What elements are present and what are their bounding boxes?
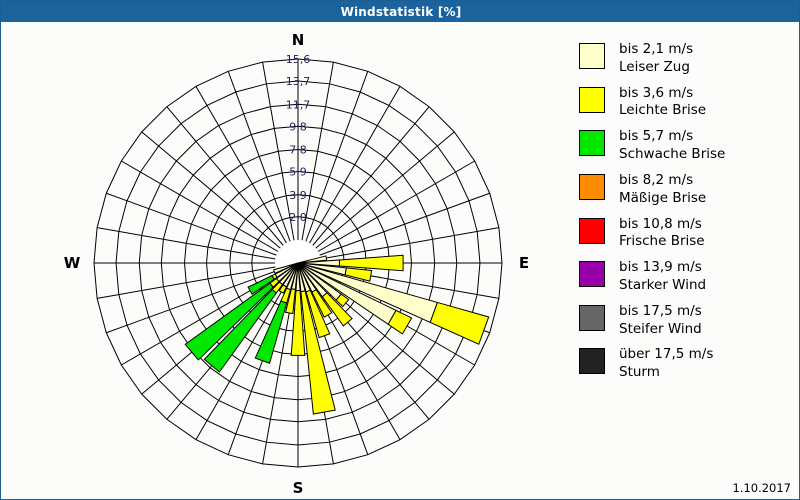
- grid-spoke: [318, 161, 475, 252]
- legend-label: bis 8,2 m/sMäßige Brise: [619, 172, 706, 208]
- grid-spoke: [313, 107, 429, 246]
- rose-petal-segment: [430, 302, 489, 344]
- legend-name-label: Frische Brise: [619, 233, 705, 251]
- legend-speed-label: bis 8,2 m/s: [619, 172, 706, 190]
- legend-speed-label: bis 2,1 m/s: [619, 41, 693, 59]
- legend-color-swatch: [579, 261, 605, 287]
- legend-color-swatch: [579, 130, 605, 156]
- legend-label: bis 3,6 m/sLeichte Brise: [619, 85, 706, 121]
- compass-label-south: S: [293, 479, 304, 497]
- legend-name-label: Mäßige Brise: [619, 190, 706, 208]
- legend-color-swatch: [579, 218, 605, 244]
- grid-spoke: [97, 267, 275, 298]
- legend-speed-label: bis 13,9 m/s: [619, 259, 706, 277]
- window-titlebar: Windstatistik [%]: [1, 1, 800, 22]
- legend-speed-label: bis 5,7 m/s: [619, 128, 725, 146]
- grid-spoke: [316, 132, 455, 248]
- legend-label: bis 5,7 m/sSchwache Brise: [619, 128, 725, 164]
- legend-label: bis 10,8 m/sFrische Brise: [619, 216, 705, 252]
- compass-label-east: E: [519, 254, 529, 272]
- legend-color-swatch: [579, 43, 605, 69]
- grid-spoke: [310, 86, 401, 243]
- legend-speed-label: über 17,5 m/s: [619, 346, 713, 364]
- radial-tick-label: 15,6: [286, 53, 311, 66]
- legend-name-label: Sturm: [619, 364, 713, 382]
- grid-spoke: [320, 193, 490, 255]
- legend-item[interactable]: bis 8,2 m/sMäßige Brise: [579, 172, 794, 208]
- rose-petals: [185, 255, 488, 414]
- grid-spoke: [228, 71, 290, 241]
- date-label: 1.10.2017: [732, 481, 791, 495]
- radial-tick-label: 5,9: [289, 166, 307, 179]
- legend: bis 2,1 m/sLeiser Zugbis 3,6 m/sLeichte …: [579, 41, 794, 390]
- radial-tick-label: 7,8: [289, 144, 307, 157]
- legend-label: bis 13,9 m/sStarker Wind: [619, 259, 706, 295]
- legend-color-swatch: [579, 174, 605, 200]
- window-title: Windstatistik [%]: [341, 5, 462, 19]
- legend-name-label: Leiser Zug: [619, 59, 693, 77]
- grid-spoke: [97, 228, 275, 259]
- grid-spoke: [306, 71, 368, 241]
- grid-spoke: [106, 193, 276, 255]
- legend-color-swatch: [579, 348, 605, 374]
- legend-item[interactable]: bis 17,5 m/sSteifer Wind: [579, 303, 794, 339]
- legend-item[interactable]: bis 13,9 m/sStarker Wind: [579, 259, 794, 295]
- legend-label: bis 17,5 m/sSteifer Wind: [619, 303, 702, 339]
- legend-item[interactable]: bis 10,8 m/sFrische Brise: [579, 216, 794, 252]
- grid-spoke: [196, 86, 287, 243]
- legend-speed-label: bis 3,6 m/s: [619, 85, 706, 103]
- legend-item[interactable]: bis 2,1 m/sLeiser Zug: [579, 41, 794, 77]
- legend-label: über 17,5 m/sSturm: [619, 346, 713, 382]
- radial-tick-label: 3,9: [289, 189, 307, 202]
- radial-tick-label: 9,8: [289, 120, 307, 133]
- grid-spoke: [142, 132, 281, 248]
- compass-label-west: W: [64, 254, 81, 272]
- legend-name-label: Schwache Brise: [619, 146, 725, 164]
- wind-statistics-window: Windstatistik [%] 2,03,95,97,89,811,713,…: [0, 0, 800, 500]
- grid-spoke: [121, 161, 278, 252]
- legend-color-swatch: [579, 87, 605, 113]
- radial-tick-label: 13,7: [286, 75, 311, 88]
- legend-name-label: Leichte Brise: [619, 102, 706, 120]
- legend-name-label: Steifer Wind: [619, 321, 702, 339]
- grid-spoke: [321, 228, 499, 259]
- compass-label-north: N: [292, 31, 305, 49]
- grid-spoke: [167, 107, 283, 246]
- legend-speed-label: bis 10,8 m/s: [619, 216, 705, 234]
- legend-item[interactable]: bis 3,6 m/sLeichte Brise: [579, 85, 794, 121]
- radial-tick-label: 2,0: [289, 211, 307, 224]
- radial-tick-label: 11,7: [286, 98, 311, 111]
- legend-speed-label: bis 17,5 m/s: [619, 303, 702, 321]
- legend-item[interactable]: über 17,5 m/sSturm: [579, 346, 794, 382]
- legend-label: bis 2,1 m/sLeiser Zug: [619, 41, 693, 77]
- legend-name-label: Starker Wind: [619, 277, 706, 295]
- legend-item[interactable]: bis 5,7 m/sSchwache Brise: [579, 128, 794, 164]
- legend-color-swatch: [579, 305, 605, 331]
